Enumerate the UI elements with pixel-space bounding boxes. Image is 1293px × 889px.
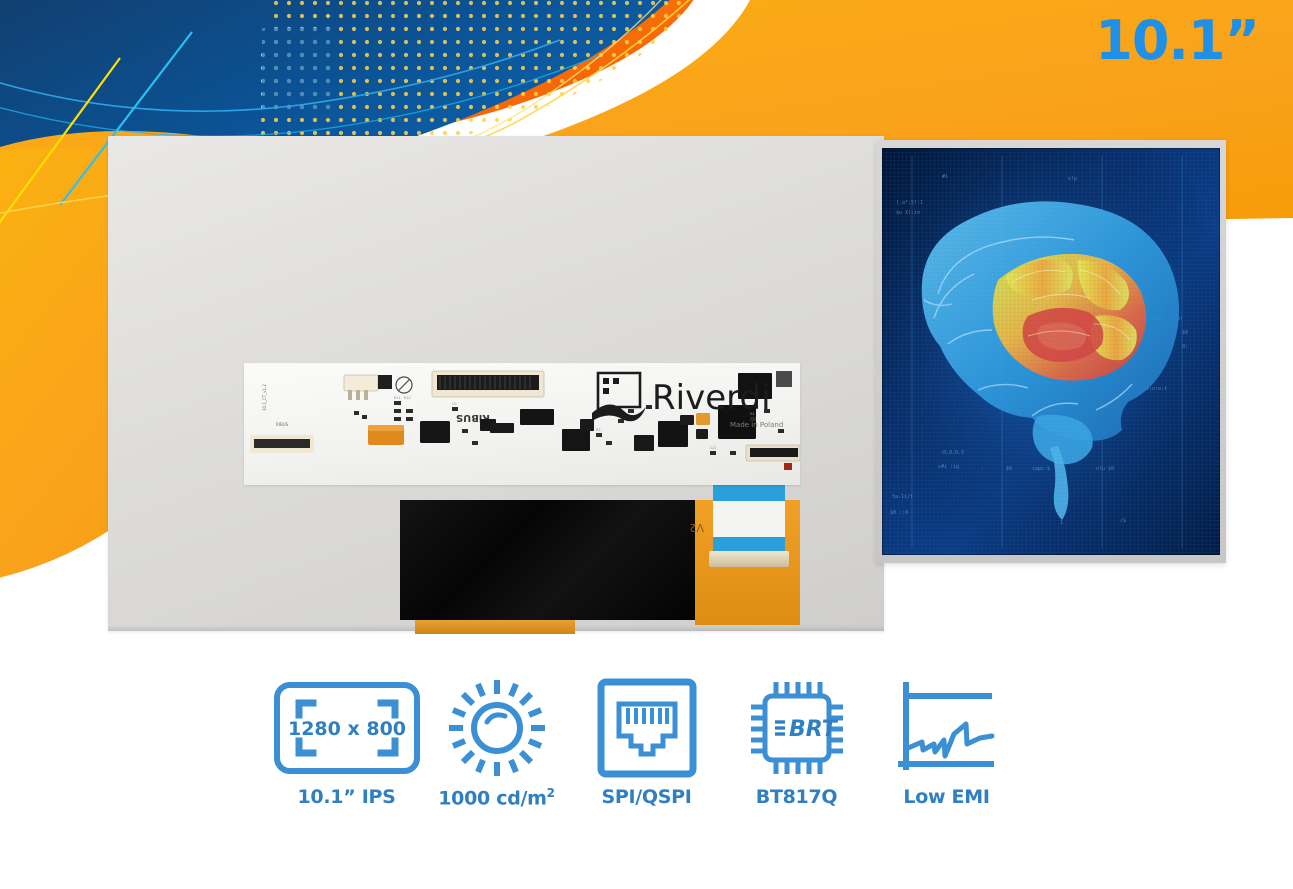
lcd-black-glass — [400, 500, 695, 620]
brightness-sun-icon — [445, 676, 549, 780]
svg-text:RIBUS: RIBUS — [276, 422, 289, 427]
svg-text:Made in Poland: Made in Poland — [730, 421, 783, 429]
svg-text:C21: C21 — [710, 446, 717, 450]
screen-content: (.a*:5!:1$o X(:in #1x!p 0.0tt!d*nde:, 0 … — [882, 148, 1220, 555]
brain-visualization-image: (.a*:5!:1$o X(:in #1x!p 0.0tt!d*nde:, 0 … — [882, 148, 1220, 555]
feature-emi: Low EMI — [872, 676, 1022, 808]
product-banner: 10.1” V20 10.1_CT_v1.2 RIBUS — [0, 0, 1293, 889]
brightness-value: 1000 cd/m — [438, 787, 546, 809]
ribbon-band-white — [713, 501, 785, 537]
feature-interface: SPI/QSPI — [572, 676, 722, 808]
feature-list: 1280 x 800 10.1” IPS — [0, 676, 1293, 846]
feature-chip: BRT BT817Q — [722, 676, 872, 808]
feature-label-interface: SPI/QSPI — [601, 786, 691, 808]
lcd-bottom-flex-strip — [415, 620, 575, 634]
svg-text:R11: R11 — [394, 396, 401, 400]
feature-brightness: 1000 cd/m2 — [422, 676, 572, 809]
chip-icon: BRT — [745, 676, 849, 780]
display-panel-front: (.a*:5!:1$o X(:in #1x!p 0.0tt!d*nde:, 0 … — [876, 140, 1226, 563]
brightness-unit-sup: 2 — [547, 786, 555, 800]
ribbon-connector — [709, 551, 789, 567]
feature-label-resolution: 10.1” IPS — [298, 786, 396, 808]
svg-text:R3: R3 — [596, 428, 601, 432]
ribbon-band-top — [713, 485, 785, 501]
emi-chart-icon — [892, 676, 1002, 780]
ribbon-band-bottom — [713, 537, 785, 551]
rj45-connector-icon — [597, 676, 697, 780]
svg-text:10.1_CT_v1.2: 10.1_CT_v1.2 — [262, 384, 267, 411]
resolution-icon-text: 1280 x 800 — [287, 718, 405, 740]
feature-label-chip: BT817Q — [756, 786, 837, 808]
size-badge: 10.1” — [1095, 14, 1259, 68]
svg-text:R12: R12 — [404, 396, 411, 400]
ffc-ribbon-cable — [713, 485, 785, 573]
svg-text:Riverdi: Riverdi — [652, 378, 771, 418]
chip-icon-text: BRT — [789, 717, 839, 742]
feature-label-emi: Low EMI — [903, 786, 989, 808]
feature-label-brightness: 1000 cd/m2 — [438, 786, 554, 809]
svg-text:C9: C9 — [452, 402, 457, 406]
resolution-icon: 1280 x 800 — [273, 676, 421, 780]
feature-resolution: 1280 x 800 10.1” IPS — [272, 676, 422, 808]
svg-text:V20: V20 — [690, 521, 704, 534]
riverdi-controller-pcb: 10.1_CT_v1.2 RIBUS — [244, 363, 800, 485]
